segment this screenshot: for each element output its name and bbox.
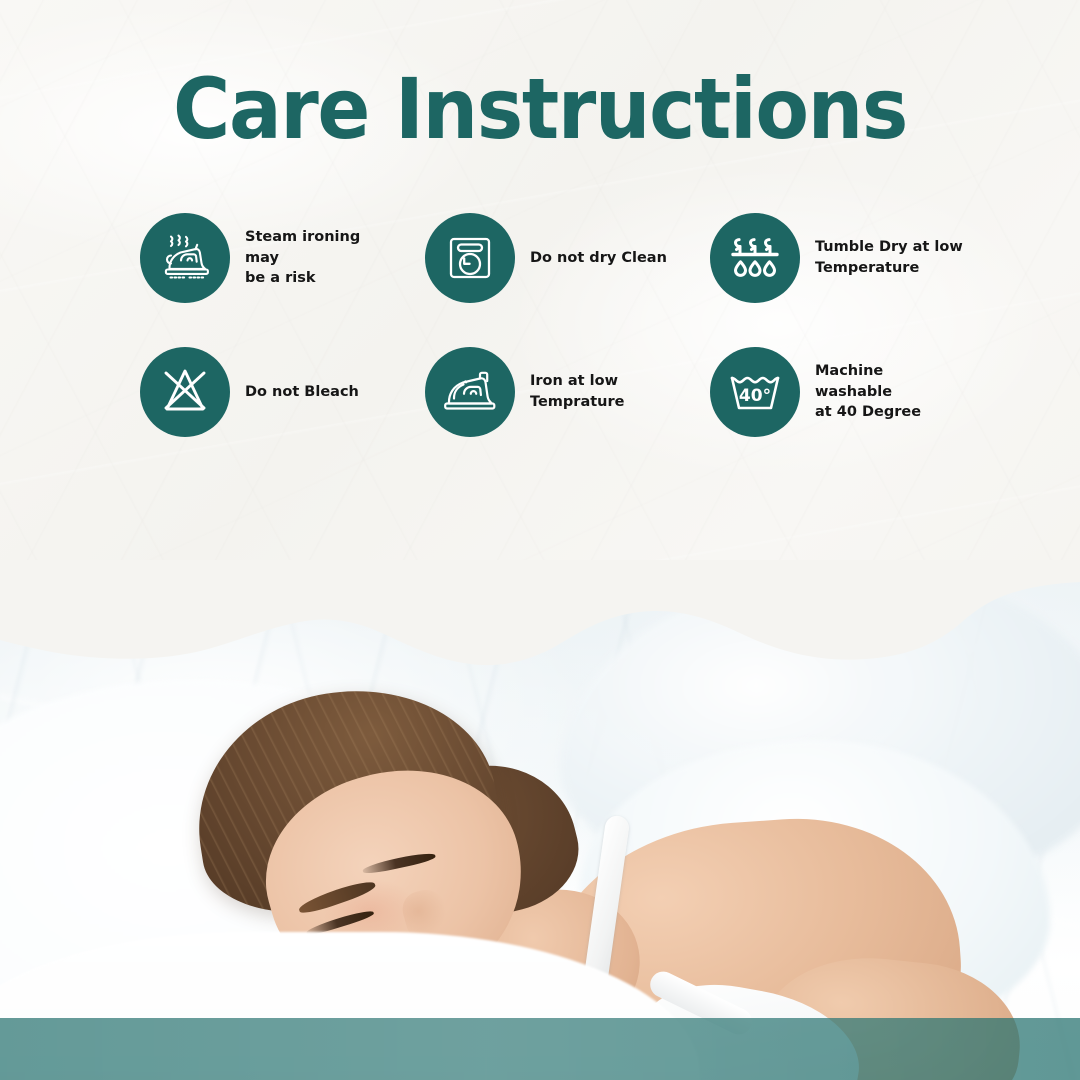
tumble-dry-low-icon [710, 213, 800, 303]
care-item-label: Steam ironing may be a risk [245, 227, 395, 289]
care-item-no-dry-clean: Do not dry Clean [425, 213, 710, 303]
care-item-label: Do not Bleach [245, 382, 359, 403]
woman-figure [0, 560, 1080, 1080]
care-item-no-bleach: Do not Bleach [140, 347, 425, 437]
steam-iron-icon [140, 213, 230, 303]
care-instructions-grid: Steam ironing may be a risk Do not dry C… [140, 213, 1040, 481]
care-item-label: Tumble Dry at low Temperature [815, 237, 963, 278]
care-item-label: Machine washable at 40 Degree [815, 361, 965, 423]
sleeping-woman-photo [0, 560, 1080, 1080]
care-instructions-page: Care Instructions Steam [0, 0, 1080, 1080]
care-item-machine-wash-40: 40° Machine washable at 40 Degree [710, 347, 1010, 437]
no-bleach-icon [140, 347, 230, 437]
iron-low-temp-icon [425, 347, 515, 437]
bottom-accent-bar-highlight [0, 1018, 1080, 1080]
care-item-label: Do not dry Clean [530, 248, 667, 269]
care-item-iron-low-temp: Iron at low Temprature [425, 347, 710, 437]
page-title: Care Instructions [38, 64, 1042, 155]
care-item-steam-ironing: Steam ironing may be a risk [140, 213, 425, 303]
no-dry-clean-icon [425, 213, 515, 303]
machine-wash-40-icon: 40° [710, 347, 800, 437]
care-item-label: Iron at low Temprature [530, 371, 624, 412]
care-item-tumble-dry-low: Tumble Dry at low Temperature [710, 213, 1010, 303]
wash-temperature-text: 40° [739, 386, 771, 406]
